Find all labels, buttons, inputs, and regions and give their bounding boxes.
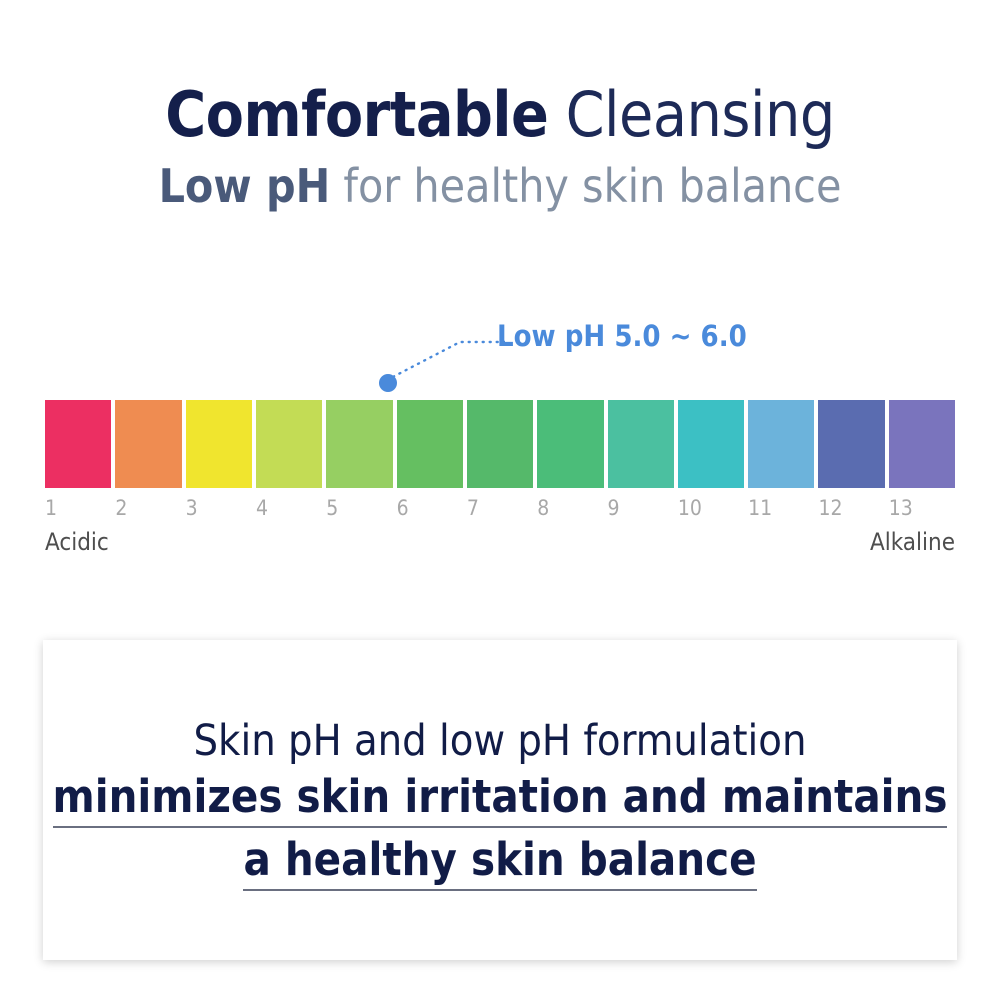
ph-swatch-11	[748, 400, 814, 488]
ph-tick-12: 12	[818, 496, 884, 522]
page-subtitle: Low pH for healthy skin balance	[0, 158, 1000, 214]
ph-tick-10: 10	[678, 496, 744, 522]
ph-tick-7: 7	[467, 496, 533, 522]
ph-tick-6: 6	[397, 496, 463, 522]
headline-block: Comfortable Cleansing Low pH for healthy…	[0, 78, 1000, 214]
ph-swatch-9	[608, 400, 674, 488]
ph-tick-2: 2	[115, 496, 181, 522]
ph-swatch-13	[889, 400, 955, 488]
page-subtitle-rest: for healthy skin balance	[330, 159, 841, 213]
ph-swatch-6	[397, 400, 463, 488]
ph-swatch-strip	[45, 400, 955, 488]
ph-swatch-5	[326, 400, 392, 488]
ph-tick-3: 3	[186, 496, 252, 522]
callout-marker-dot-icon	[379, 374, 397, 392]
ph-label-alkaline: Alkaline	[870, 528, 955, 556]
statement-line-3: a healthy skin balance	[43, 831, 957, 888]
ph-range-callout-label: Low pH 5.0 ~ 6.0	[497, 319, 747, 353]
ph-tick-1: 1	[45, 496, 111, 522]
ph-scale-chart: Low pH 5.0 ~ 6.0 1 2 3 4 5 6 7 8 9 10 11…	[45, 300, 955, 570]
ph-swatch-2	[115, 400, 181, 488]
statement-line-1: Skin pH and low pH formulation	[43, 714, 957, 768]
ph-swatch-3	[186, 400, 252, 488]
ph-tick-8: 8	[537, 496, 603, 522]
ph-swatch-10	[678, 400, 744, 488]
ph-tick-11: 11	[748, 496, 814, 522]
ph-swatch-8	[537, 400, 603, 488]
statement-text-block: Skin pH and low pH formulation minimizes…	[43, 714, 957, 888]
page-title-emphasis: Comfortable	[165, 78, 548, 151]
ph-swatch-1	[45, 400, 111, 488]
ph-tick-4: 4	[256, 496, 322, 522]
ph-label-acidic: Acidic	[45, 528, 109, 556]
ph-tick-9: 9	[608, 496, 674, 522]
ph-swatch-7	[467, 400, 533, 488]
statement-card: Skin pH and low pH formulation minimizes…	[43, 640, 957, 960]
ph-tick-13: 13	[889, 496, 955, 522]
statement-line-2-underlined: minimizes skin irritation and maintains	[53, 770, 948, 828]
page-title-rest: Cleansing	[548, 78, 834, 151]
ph-swatch-12	[818, 400, 884, 488]
ph-end-labels: Acidic Alkaline	[45, 528, 955, 556]
statement-line-3-underlined: a healthy skin balance	[243, 833, 756, 891]
statement-line-2: minimizes skin irritation and maintains	[43, 768, 957, 825]
page-title: Comfortable Cleansing	[0, 78, 1000, 152]
ph-swatch-4	[256, 400, 322, 488]
page-subtitle-emphasis: Low pH	[159, 159, 331, 213]
ph-tick-row: 1 2 3 4 5 6 7 8 9 10 11 12 13	[45, 496, 955, 522]
ph-tick-5: 5	[326, 496, 392, 522]
